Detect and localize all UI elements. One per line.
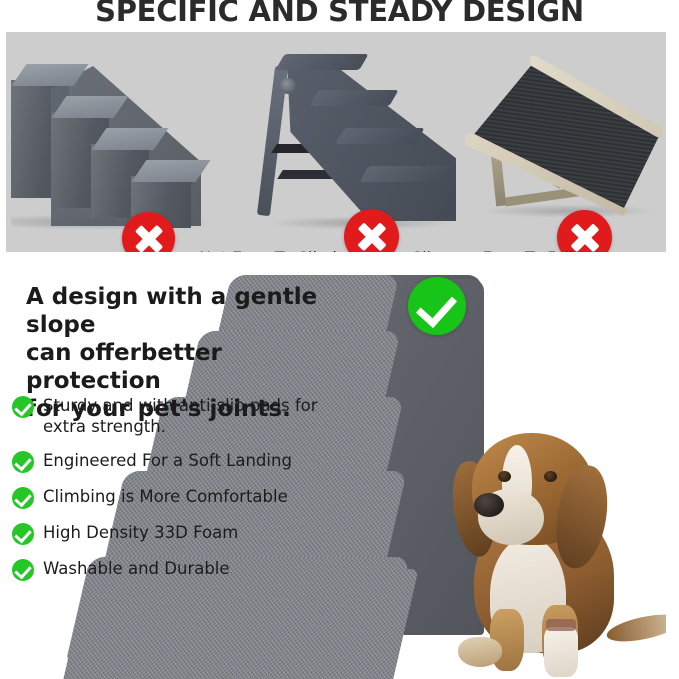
green-check-icon xyxy=(12,523,34,545)
list-item: Washable and Durable xyxy=(12,558,352,581)
product-plastic-folding-stair xyxy=(258,40,468,235)
beagle-dog xyxy=(438,427,666,679)
green-check-icon xyxy=(12,559,34,581)
bullet-label: Engineered For a Soft Landing xyxy=(43,450,292,471)
caption-product-1: Not Easy To Climb xyxy=(199,248,343,252)
headline-line-2: can offerbetter protection xyxy=(26,339,356,395)
hinge-knob-icon xyxy=(280,78,296,94)
dog-paw-left xyxy=(458,637,502,667)
step-tread-1 xyxy=(275,54,368,70)
product-wooden-carpet-ramp xyxy=(461,52,666,232)
bullet-label: High Density 33D Foam xyxy=(43,522,238,543)
headline-line-1: A design with a gentle slope xyxy=(26,283,356,339)
bullet-label: Sturdy and with anti-slip pads for extra… xyxy=(43,395,352,437)
list-item: High Density 33D Foam xyxy=(12,522,352,545)
dog-nose xyxy=(474,493,504,517)
dog-paw-bandage xyxy=(544,627,578,677)
infographic-page: SPECIFIC AND STEADY DESIGN xyxy=(0,0,679,679)
green-check-icon-approved xyxy=(408,277,466,335)
feature-bullet-list: Sturdy and with anti-slip pads for extra… xyxy=(12,395,352,594)
bullet-label: Climbing is More Comfortable xyxy=(43,486,288,507)
feature-panel: A design with a gentle slope can offerbe… xyxy=(6,255,666,679)
green-check-icon xyxy=(12,487,34,509)
step-tread-2 xyxy=(309,90,398,106)
list-item: Engineered For a Soft Landing xyxy=(12,450,352,473)
product-foam-4-step-stair xyxy=(11,44,241,229)
page-title: SPECIFIC AND STEADY DESIGN xyxy=(0,0,679,28)
dog-eye-left xyxy=(498,471,511,482)
green-check-icon xyxy=(12,451,34,473)
dog-eye-right xyxy=(544,471,557,482)
list-item: Sturdy and with anti-slip pads for extra… xyxy=(12,395,352,437)
green-check-icon xyxy=(12,396,34,418)
caption-product-2: Slippery Easy To Fall xyxy=(412,248,574,252)
step-tread-3 xyxy=(335,128,424,144)
list-item: Climbing is More Comfortable xyxy=(12,486,352,509)
bullet-label: Washable and Durable xyxy=(43,558,230,579)
dog-tail xyxy=(605,609,666,646)
step-tread-4 xyxy=(359,166,450,182)
comparison-panel: Not Easy To Climb Slippery Easy To Fall xyxy=(6,32,666,252)
